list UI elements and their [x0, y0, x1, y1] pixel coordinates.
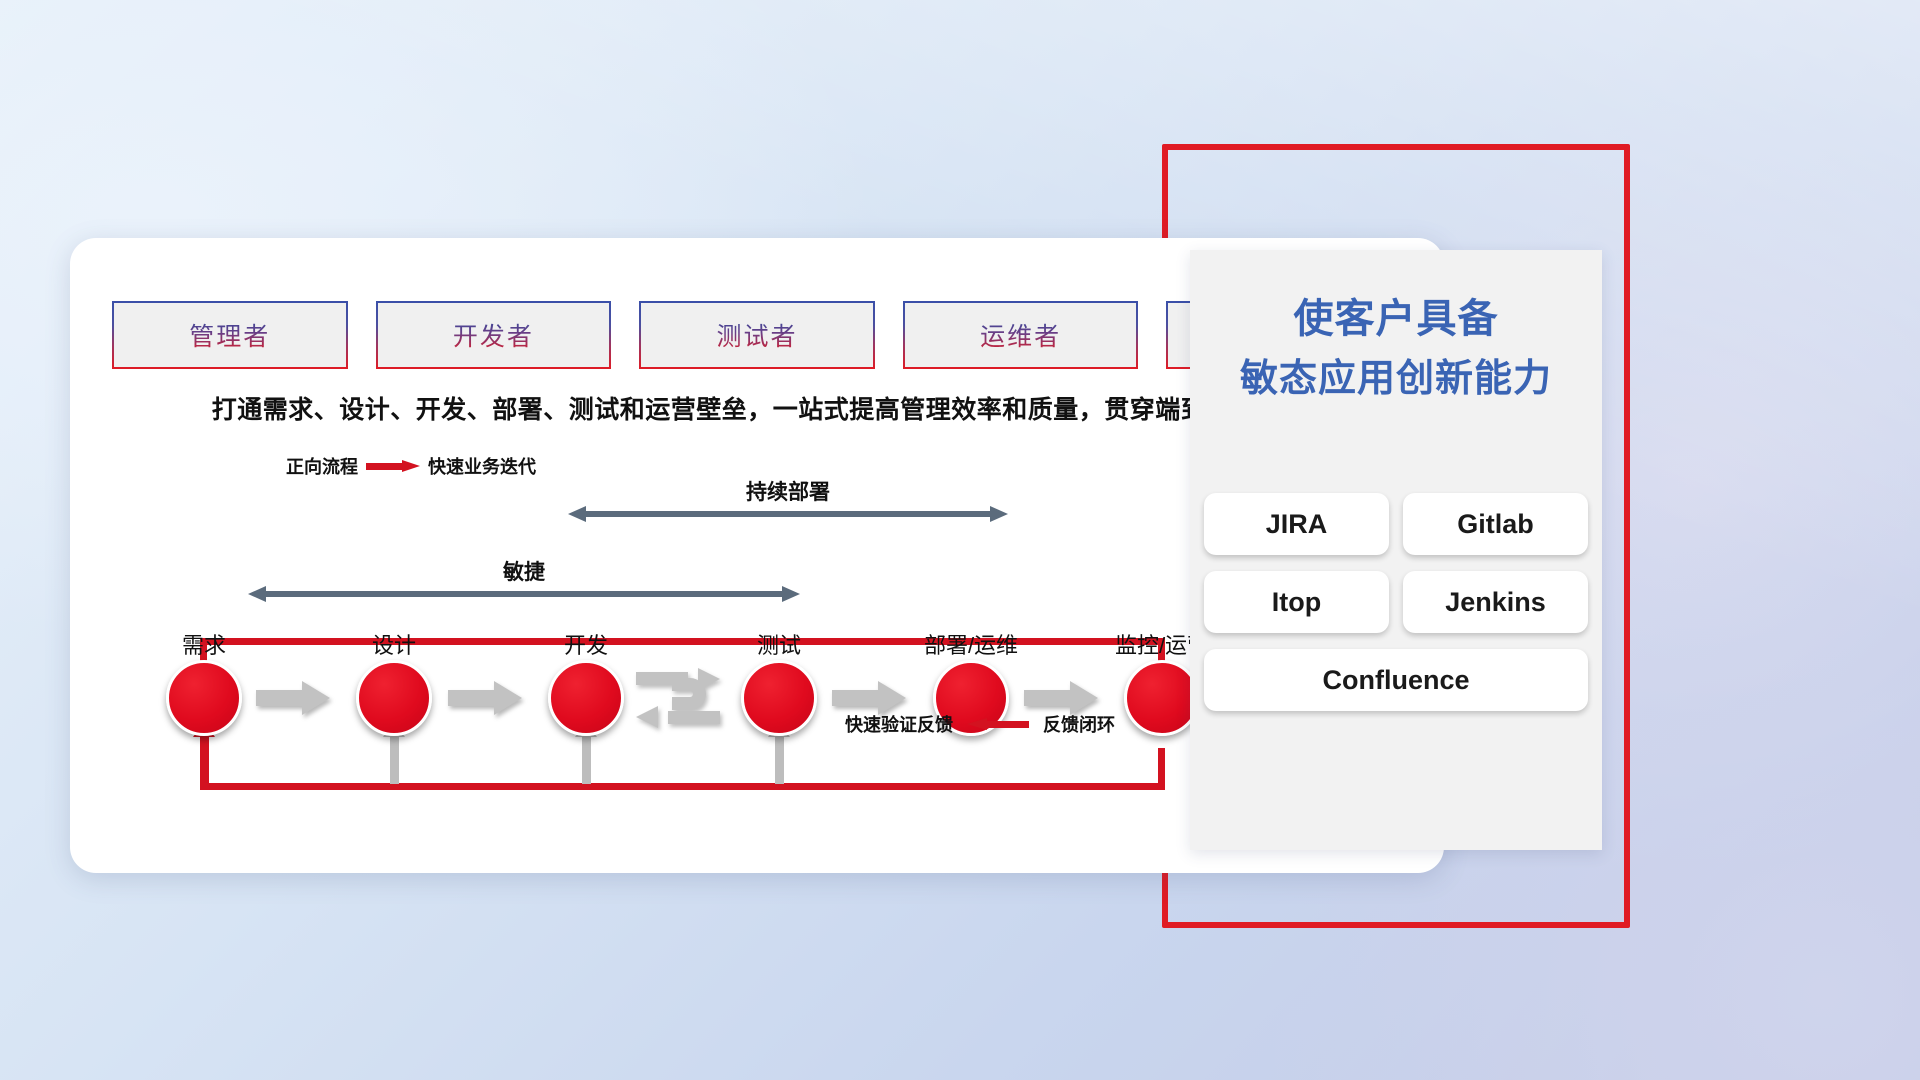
- legend-feedback-left-label: 快速验证反馈: [845, 711, 953, 737]
- pipeline-node-label: 开发: [564, 628, 608, 660]
- arrow-right-red-icon: [366, 460, 420, 472]
- role-box-developer[interactable]: 开发者: [376, 301, 612, 369]
- legend-forward-right-label: 快速业务迭代: [428, 453, 536, 479]
- gray-stem-test: [775, 736, 784, 784]
- tool-chip-gitlab[interactable]: Gitlab: [1403, 493, 1588, 555]
- pipeline-node-design[interactable]: 设计: [356, 660, 432, 736]
- pipeline-node-develop[interactable]: 开发: [548, 660, 624, 736]
- span-continuous-deployment: 持续部署: [568, 506, 1008, 522]
- arrow-bar: [585, 511, 991, 517]
- arrow-head-right-icon: [990, 506, 1008, 522]
- role-box-tester[interactable]: 测试者: [639, 301, 875, 369]
- arrow-left-red-icon: [967, 718, 1029, 730]
- pipeline-node-label: 部署/运维: [924, 628, 1018, 660]
- connector-arrow-test-deploy-icon: [832, 681, 906, 715]
- double-arrow-icon: [568, 506, 1008, 522]
- gray-stem-develop: [582, 736, 591, 784]
- pipeline-node-label: 需求: [182, 628, 226, 660]
- panel-title-line1: 使客户具备: [1190, 288, 1602, 350]
- pipeline-node-label: 测试: [757, 628, 801, 660]
- pipeline-node-monitor-operations[interactable]: 监控/运营: [1124, 660, 1200, 736]
- span-agile: 敏捷: [248, 586, 800, 602]
- tool-chip-jira[interactable]: JIRA: [1204, 493, 1389, 555]
- pipeline-node-requirement[interactable]: 需求: [166, 660, 242, 736]
- panel-title-line2: 敏态应用创新能力: [1190, 350, 1602, 409]
- pipeline-node-dot: [1124, 660, 1200, 736]
- red-stem-requirement: [200, 736, 209, 784]
- role-label: 管理者: [189, 317, 270, 353]
- connector-arrow-requirement-design-icon: [256, 681, 330, 715]
- arrow-head-left-icon: [568, 506, 586, 522]
- pipeline-node-label: 设计: [372, 628, 416, 660]
- feedback-loop-node-stem: [1158, 748, 1165, 790]
- role-box-manager[interactable]: 管理者: [112, 301, 348, 369]
- pipeline-node-dot: [548, 660, 624, 736]
- tool-chip-itop[interactable]: Itop: [1204, 571, 1389, 633]
- double-arrow-icon: [248, 586, 800, 602]
- tool-chip-confluence[interactable]: Confluence: [1204, 649, 1588, 711]
- value-proposition-panel: 使客户具备 敏态应用创新能力 JIRA Gitlab Itop Jenkins …: [1190, 250, 1602, 850]
- legend-feedback-loop: 快速验证反馈 反馈闭环: [845, 711, 1115, 737]
- role-label: 开发者: [453, 317, 534, 353]
- legend-feedback-right-label: 反馈闭环: [1043, 711, 1115, 737]
- pipeline-node-dot: [166, 660, 242, 736]
- role-label: 测试者: [716, 317, 797, 353]
- connector-arrow-design-develop-icon: [448, 681, 522, 715]
- legend-forward-flow: 正向流程 快速业务迭代: [286, 453, 536, 479]
- legend-forward-left-label: 正向流程: [286, 453, 358, 479]
- role-label: 运维者: [980, 317, 1061, 353]
- connector-bidirectional-develop-test-icon: [636, 670, 720, 726]
- tool-list: JIRA Gitlab Itop Jenkins Confluence: [1204, 493, 1588, 711]
- feedback-loop-top-line: [200, 638, 1165, 645]
- role-box-ops[interactable]: 运维者: [903, 301, 1139, 369]
- pipeline-node-dot: [741, 660, 817, 736]
- arrow-bar: [265, 591, 783, 597]
- feedback-loop-bottom-line: [200, 783, 1165, 790]
- pipeline-node-dot: [356, 660, 432, 736]
- panel-title: 使客户具备 敏态应用创新能力: [1190, 288, 1602, 409]
- arrow-head-left-icon: [248, 586, 266, 602]
- connector-arrow-deploy-monitor-icon: [1024, 681, 1098, 715]
- span-label: 敏捷: [248, 556, 800, 586]
- arrow-head-right-icon: [782, 586, 800, 602]
- gray-stem-design: [390, 736, 399, 784]
- pipeline-node-test[interactable]: 测试: [741, 660, 817, 736]
- tool-chip-jenkins[interactable]: Jenkins: [1403, 571, 1588, 633]
- span-label: 持续部署: [568, 476, 1008, 506]
